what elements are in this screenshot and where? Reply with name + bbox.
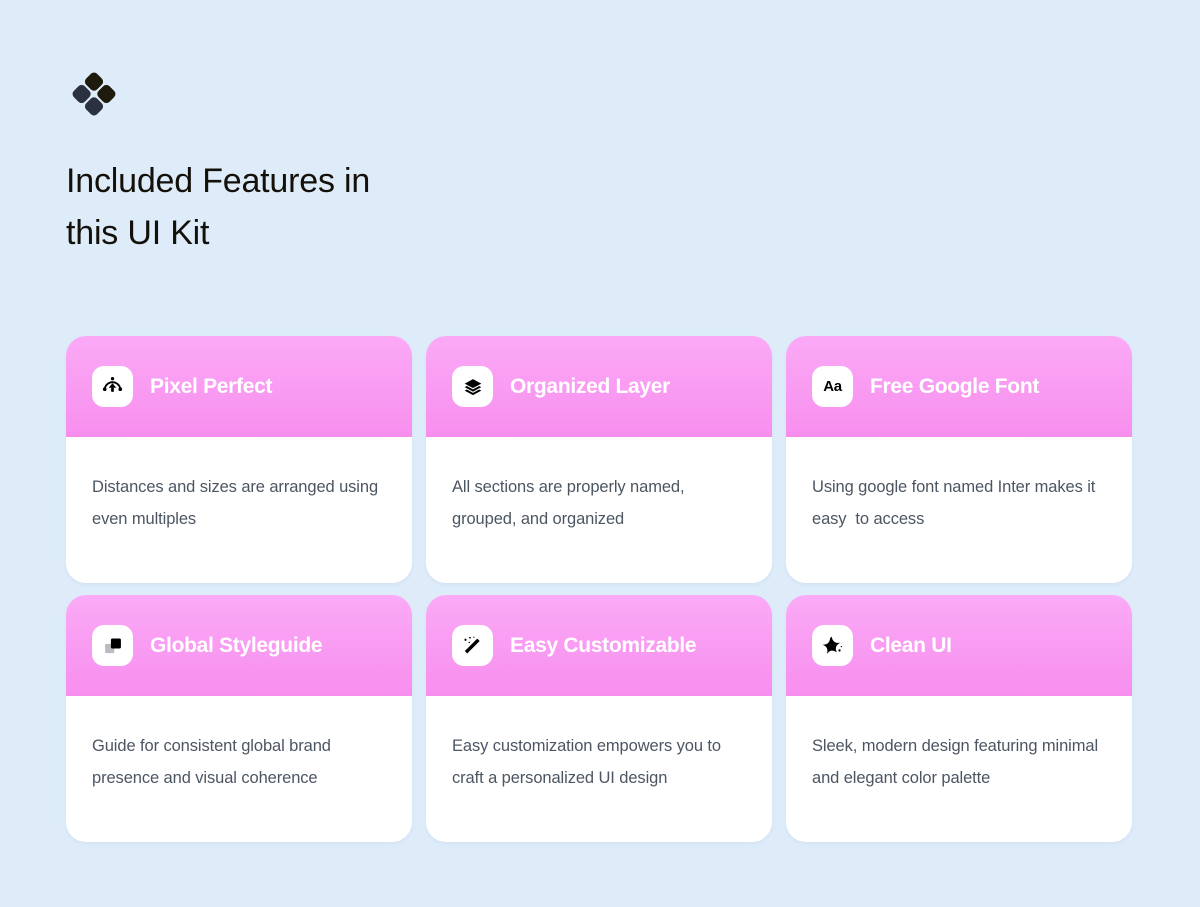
brand-logo	[67, 66, 121, 122]
card-description: Using google font named Inter makes it e…	[812, 471, 1106, 535]
card-title: Organized Layer	[510, 375, 670, 399]
card-description: Distances and sizes are arranged using e…	[92, 471, 386, 535]
card-description: Easy customization empowers you to craft…	[452, 730, 746, 794]
page-title: Included Features in this UI Kit	[66, 155, 546, 259]
feature-card-easy-customizable[interactable]: Easy Customizable Easy customization emp…	[426, 595, 772, 842]
duplicate-squares-icon	[92, 625, 133, 666]
card-header: Organized Layer	[426, 336, 772, 437]
card-body: Distances and sizes are arranged using e…	[66, 437, 412, 583]
card-title: Free Google Font	[870, 375, 1039, 399]
feature-card-organized-layer[interactable]: Organized Layer All sections are properl…	[426, 336, 772, 583]
card-header: Global Styleguide	[66, 595, 412, 696]
pixel-perfect-glyph	[102, 376, 123, 397]
features-grid: Pixel Perfect Distances and sizes are ar…	[66, 336, 1134, 842]
feature-card-global-styleguide[interactable]: Global Styleguide Guide for consistent g…	[66, 595, 412, 842]
card-description: Guide for consistent global brand presen…	[92, 730, 386, 794]
typography-aa-label: Aa	[823, 379, 842, 394]
feature-card-free-google-font[interactable]: Aa Free Google Font Using google font na…	[786, 336, 1132, 583]
typography-aa-icon: Aa	[812, 366, 853, 407]
card-body: Easy customization empowers you to craft…	[426, 696, 772, 842]
magic-wand-glyph	[462, 635, 483, 656]
card-header: Clean UI	[786, 595, 1132, 696]
card-body: Guide for consistent global brand presen…	[66, 696, 412, 842]
card-header: Easy Customizable	[426, 595, 772, 696]
card-body: Sleek, modern design featuring minimal a…	[786, 696, 1132, 842]
card-header: Aa Free Google Font	[786, 336, 1132, 437]
card-header: Pixel Perfect	[66, 336, 412, 437]
page-title-line-1: Included Features in	[66, 155, 546, 207]
feature-card-pixel-perfect[interactable]: Pixel Perfect Distances and sizes are ar…	[66, 336, 412, 583]
card-description: Sleek, modern design featuring minimal a…	[812, 730, 1106, 794]
duplicate-squares-glyph	[103, 636, 123, 656]
feature-showcase-page: Included Features in this UI Kit Pixel P…	[0, 0, 1200, 907]
sparkle-star-glyph	[822, 635, 843, 656]
layers-glyph	[463, 377, 483, 397]
card-title: Pixel Perfect	[150, 375, 272, 399]
magic-wand-icon	[452, 625, 493, 666]
card-title: Clean UI	[870, 634, 952, 658]
sparkle-star-icon	[812, 625, 853, 666]
layers-icon	[452, 366, 493, 407]
page-title-line-2: this UI Kit	[66, 207, 546, 259]
card-title: Easy Customizable	[510, 634, 696, 658]
pixel-perfect-icon	[92, 366, 133, 407]
card-title: Global Styleguide	[150, 634, 322, 658]
four-diamond-logo-icon	[67, 66, 121, 122]
card-description: All sections are properly named, grouped…	[452, 471, 746, 535]
feature-card-clean-ui[interactable]: Clean UI Sleek, modern design featuring …	[786, 595, 1132, 842]
card-body: All sections are properly named, grouped…	[426, 437, 772, 583]
card-body: Using google font named Inter makes it e…	[786, 437, 1132, 583]
